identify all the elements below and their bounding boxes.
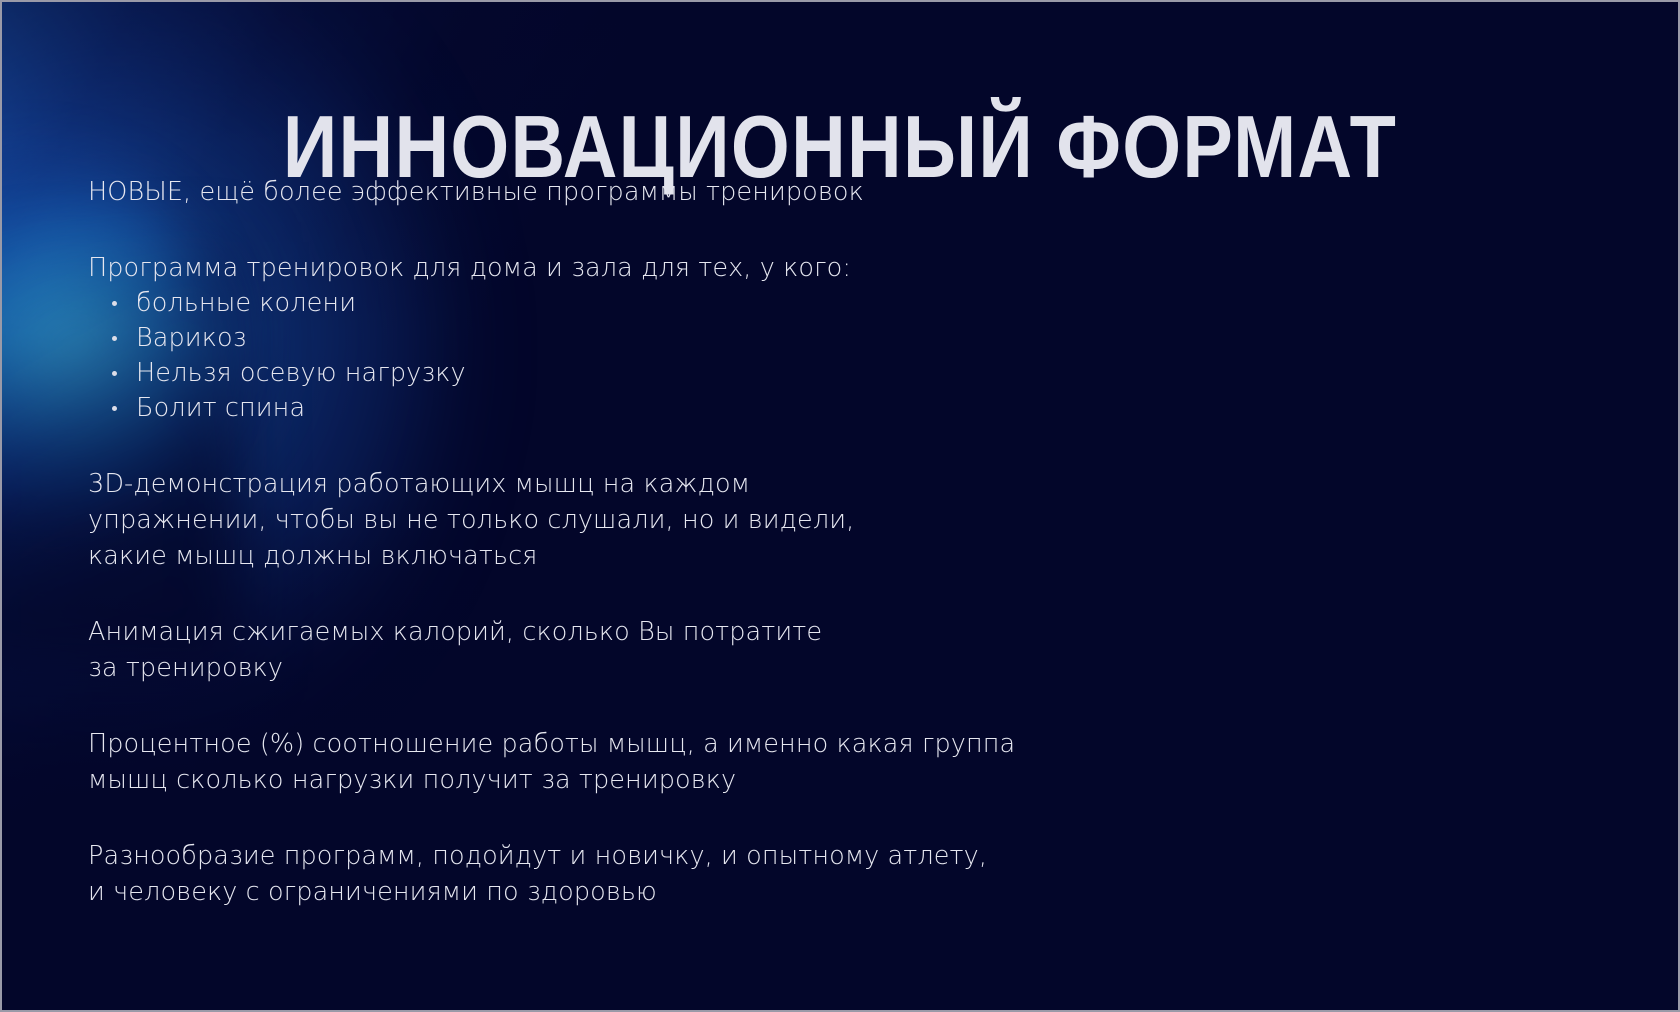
list-item-label: Варикоз <box>136 323 247 353</box>
body-line: 3D-демонстрация работающих мышц на каждо… <box>88 466 1268 502</box>
list-item: больные колени <box>88 286 1268 321</box>
list-item-label: Нельзя осевую нагрузку <box>136 358 466 388</box>
body-line: за тренировку <box>88 650 1268 686</box>
paragraph-calorie-animation: Анимация сжигаемых калорий, сколько Вы п… <box>88 614 1268 686</box>
slide-body: НОВЫЕ, ещё более эффективные программы т… <box>88 174 1268 910</box>
bullet-dot-icon <box>112 406 117 411</box>
body-line: Разнообразие программ, подойдут и новичк… <box>88 838 1268 874</box>
slide-content: ИННОВАЦИОННЫЙ ФОРМАТ НОВЫЕ, ещё более эф… <box>2 2 1678 1010</box>
body-line: какие мышц должны включаться <box>88 538 1268 574</box>
body-line: Программа тренировок для дома и зала для… <box>88 250 1268 286</box>
block-spacer <box>88 686 1268 726</box>
conditions-bullet-list: больные колени Варикоз Нельзя осевую наг… <box>88 286 1268 426</box>
block-spacer <box>88 210 1268 250</box>
paragraph-program-variety: Разнообразие программ, подойдут и новичк… <box>88 838 1268 910</box>
paragraph-percent-ratio: Процентное (%) соотношение работы мышц, … <box>88 726 1268 798</box>
bullet-dot-icon <box>112 336 117 341</box>
body-line: мышц сколько нагрузки получит за трениро… <box>88 762 1268 798</box>
paragraph-new-programs: НОВЫЕ, ещё более эффективные программы т… <box>88 174 1268 210</box>
paragraph-home-gym-program: Программа тренировок для дома и зала для… <box>88 250 1268 286</box>
body-line: упражнении, чтобы вы не только слушали, … <box>88 502 1268 538</box>
bullet-dot-icon <box>112 371 117 376</box>
body-line: и человеку с ограничениями по здоровью <box>88 874 1268 910</box>
block-spacer <box>88 426 1268 466</box>
list-item: Болит спина <box>88 391 1268 426</box>
block-spacer <box>88 574 1268 614</box>
paragraph-3d-demo: 3D-демонстрация работающих мышц на каждо… <box>88 466 1268 574</box>
body-line: Процентное (%) соотношение работы мышц, … <box>88 726 1268 762</box>
body-line: НОВЫЕ, ещё более эффективные программы т… <box>88 174 1268 210</box>
list-item: Нельзя осевую нагрузку <box>88 356 1268 391</box>
body-line: Анимация сжигаемых калорий, сколько Вы п… <box>88 614 1268 650</box>
list-item-label: Болит спина <box>136 393 305 423</box>
list-item-label: больные колени <box>136 288 356 318</box>
list-item: Варикоз <box>88 321 1268 356</box>
block-spacer <box>88 798 1268 838</box>
presentation-slide: ИННОВАЦИОННЫЙ ФОРМАТ НОВЫЕ, ещё более эф… <box>0 0 1680 1012</box>
bullet-dot-icon <box>112 301 117 306</box>
